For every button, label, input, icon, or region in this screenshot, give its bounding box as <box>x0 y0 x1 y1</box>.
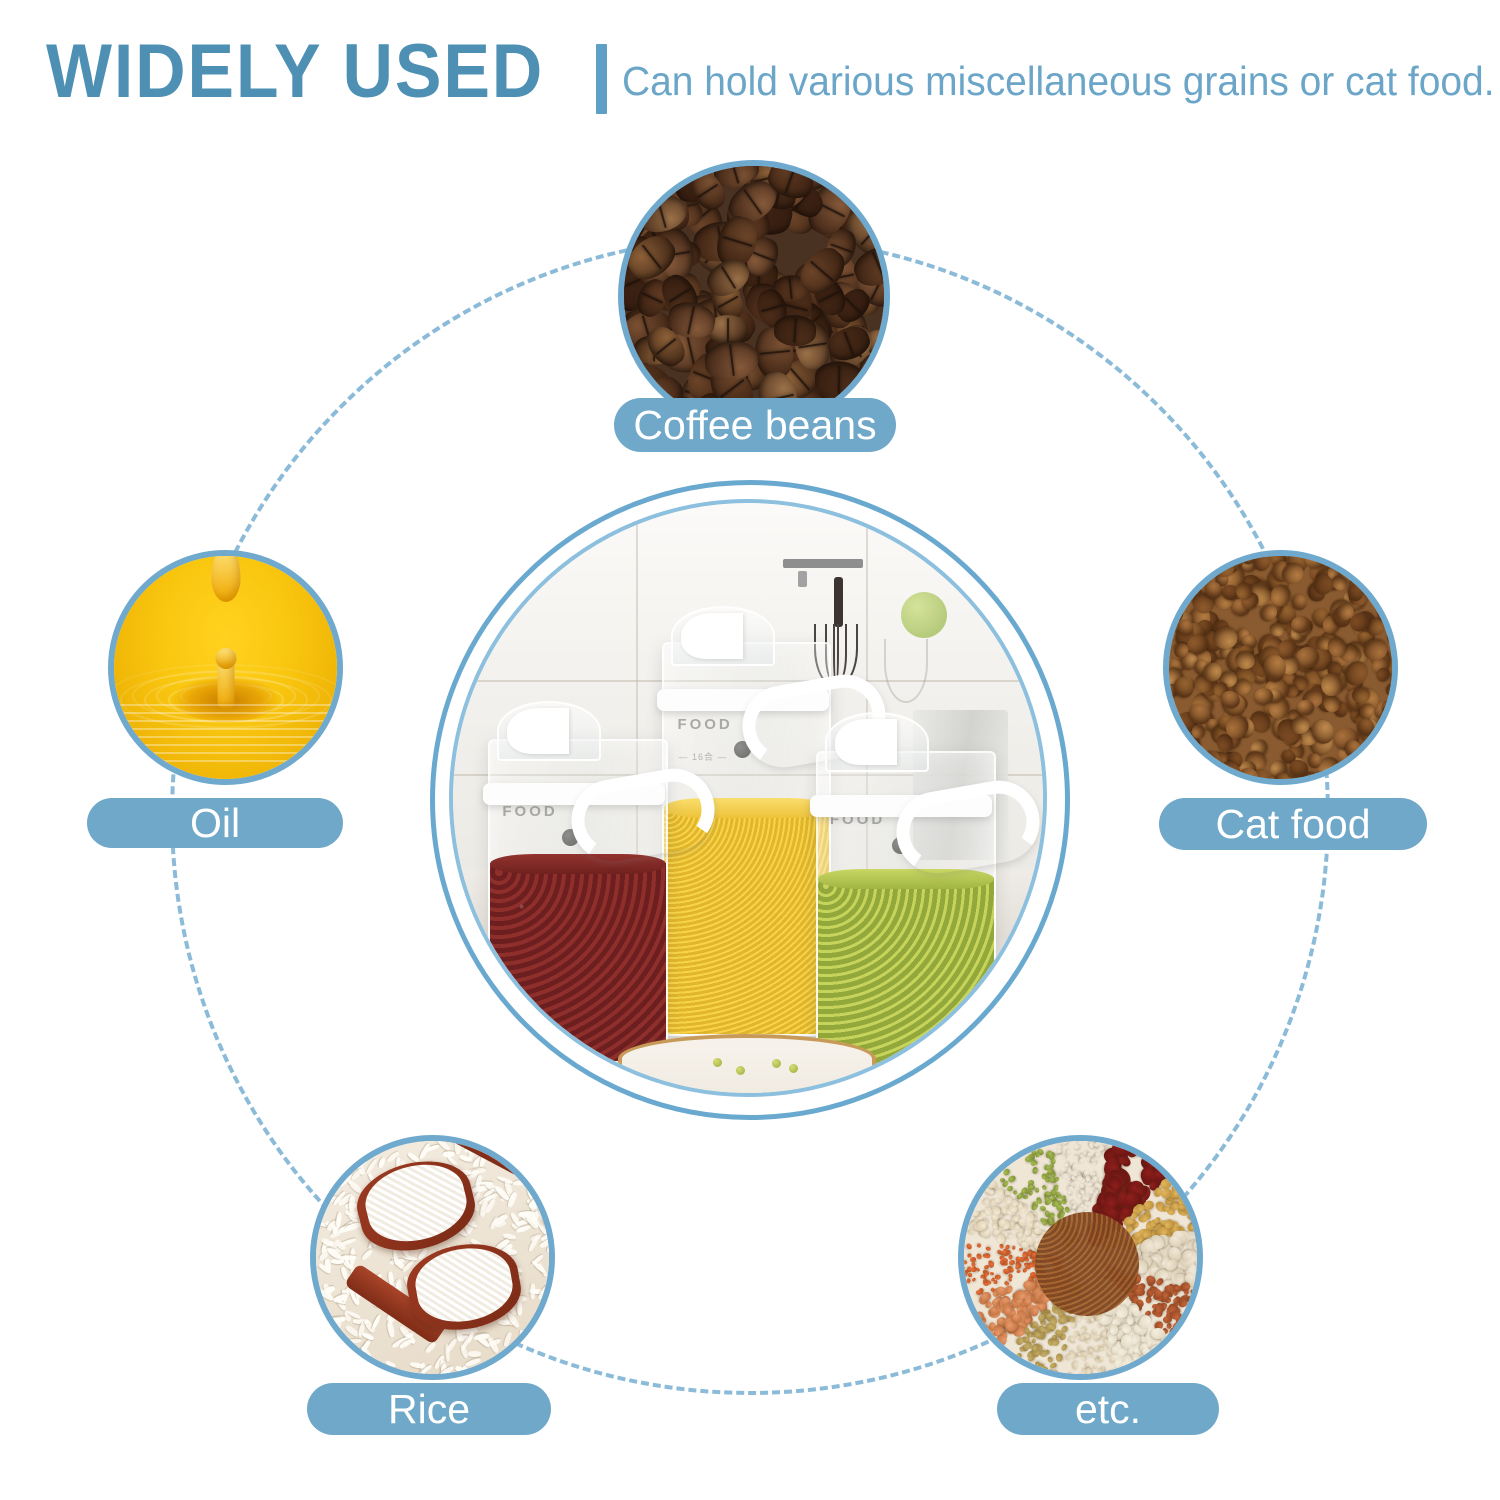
grain-piece <box>1197 1237 1203 1249</box>
rice-circle <box>310 1135 555 1380</box>
rice-grain <box>550 1256 555 1268</box>
rice-grain <box>418 1142 431 1160</box>
badge-etc[interactable]: etc. <box>997 1383 1219 1435</box>
rice-grain <box>427 1373 445 1380</box>
product-hero-photo: FOOD — 16合 — FOOD <box>453 503 1043 1093</box>
rice-grain <box>531 1325 543 1331</box>
badge-oil[interactable]: Oil <box>87 798 343 848</box>
container-left-spout <box>497 701 601 761</box>
rice-grain <box>506 1348 518 1363</box>
spout-flap <box>507 708 569 754</box>
rice-grain <box>414 1373 430 1380</box>
spout-flap <box>681 613 743 659</box>
kibble-piece <box>1390 675 1398 690</box>
rice-grain <box>384 1374 392 1380</box>
container-center-spout <box>671 606 775 666</box>
rice-grain <box>554 1375 555 1380</box>
hero-inner-ring: FOOD — 16合 — FOOD <box>449 499 1047 1097</box>
rice-grain <box>513 1373 524 1380</box>
shelf-hook <box>798 571 807 587</box>
lemon-decor <box>901 592 947 638</box>
rice-grain <box>350 1376 364 1380</box>
rice-grain <box>524 1379 535 1380</box>
rice-grain <box>327 1349 345 1355</box>
cat-food-circle <box>1163 550 1398 785</box>
grain-piece <box>1052 1374 1057 1379</box>
badge-rice[interactable]: Rice <box>307 1383 551 1435</box>
page-header: WIDELY USED Can hold various miscellaneo… <box>0 0 1500 145</box>
oil-circle <box>108 550 343 785</box>
grain-piece <box>1115 1378 1121 1380</box>
etc-circle <box>958 1135 1203 1380</box>
rice-grain <box>519 1330 527 1346</box>
kibble-piece <box>1392 670 1398 688</box>
page-subtitle: Can hold various miscellaneous grains or… <box>622 56 1495 106</box>
grain-piece <box>1036 1187 1040 1192</box>
grain-piece <box>1108 1378 1116 1380</box>
loose-pea <box>772 1059 781 1068</box>
grain-piece <box>1089 1373 1094 1377</box>
cat-food-image <box>1169 556 1392 779</box>
kibble-piece <box>1297 700 1314 716</box>
gold-rimmed-tray <box>618 1034 876 1093</box>
grain-piece <box>1064 1205 1071 1213</box>
grain-piece <box>1196 1231 1203 1249</box>
grain-piece <box>1051 1159 1057 1166</box>
grain-piece <box>1067 1373 1073 1378</box>
rice-grain <box>531 1260 547 1275</box>
title-divider-bar <box>596 44 607 114</box>
grain-piece <box>1197 1229 1203 1243</box>
rice-grain <box>464 1358 481 1368</box>
rice-grain <box>551 1370 555 1376</box>
fill-surface <box>818 869 994 889</box>
rice-grain <box>387 1138 405 1150</box>
rice-grain <box>335 1211 342 1227</box>
rice-grain <box>532 1378 548 1380</box>
oil-droplet-falling <box>211 550 240 602</box>
grain-piece <box>1199 1237 1203 1252</box>
coffee-bean <box>814 361 863 398</box>
oil-sheen <box>114 704 337 764</box>
mixed-grains-image <box>964 1141 1197 1374</box>
rice-grain <box>344 1368 349 1380</box>
rice-grain <box>320 1379 335 1380</box>
rice-grain <box>442 1151 454 1158</box>
grain-piece <box>1198 1269 1203 1281</box>
jar-scale-text: — 16合 — <box>678 750 727 763</box>
grain-piece <box>1196 1291 1202 1298</box>
rice-grain <box>349 1196 356 1213</box>
rice-grain <box>426 1376 438 1380</box>
rice-grain <box>365 1158 378 1175</box>
rice-grain <box>377 1156 386 1168</box>
rice-grain <box>331 1362 336 1379</box>
rice-grain <box>459 1344 469 1359</box>
rice-grain <box>531 1283 536 1299</box>
rice-grain <box>340 1374 348 1380</box>
hero-outer-ring: FOOD — 16合 — FOOD <box>430 480 1070 1120</box>
rice-image <box>316 1141 549 1374</box>
grain-piece <box>1027 1179 1034 1185</box>
kibble-piece <box>1364 767 1382 785</box>
jar-brand-text: FOOD <box>502 803 557 820</box>
rice-grain <box>353 1370 368 1380</box>
grain-piece <box>1069 1377 1076 1380</box>
oil-image <box>114 556 337 779</box>
kibble-piece <box>1395 774 1398 785</box>
rice-grain <box>503 1331 513 1347</box>
rice-grain <box>524 1139 537 1148</box>
rice-grain <box>418 1375 430 1380</box>
badge-coffee-beans[interactable]: Coffee beans <box>614 398 896 452</box>
kibble-piece <box>1251 551 1273 574</box>
loose-pea <box>713 1058 722 1067</box>
coffee-beans-circle <box>618 160 890 432</box>
rice-grain <box>345 1351 356 1364</box>
kibble-piece <box>1307 753 1321 768</box>
rice-grain <box>346 1338 362 1343</box>
rice-grain <box>408 1373 417 1380</box>
loose-pea <box>789 1064 798 1073</box>
jar-brand-text: FOOD <box>677 716 732 733</box>
container-right-spout <box>825 712 929 772</box>
coffee-beans-image <box>624 166 884 426</box>
rice-grain <box>318 1368 331 1380</box>
jar-contents-red-beans <box>490 863 666 1061</box>
whisk-handle <box>834 577 843 627</box>
spout-flap <box>835 719 897 765</box>
rice-grain <box>326 1156 343 1166</box>
rice-grain <box>467 1351 480 1357</box>
rice-grain <box>370 1314 381 1330</box>
rice-grain <box>351 1379 364 1380</box>
kibble-piece <box>1275 773 1290 785</box>
badge-cat-food[interactable]: Cat food <box>1159 798 1427 850</box>
rice-grain <box>518 1301 523 1315</box>
rice-grain <box>361 1249 374 1262</box>
grain-piece <box>1096 1377 1100 1380</box>
grain-center-cluster <box>1035 1212 1139 1316</box>
page-title: WIDELY USED <box>46 34 544 110</box>
grain-piece <box>1041 1185 1047 1191</box>
grain-piece <box>1043 1196 1048 1200</box>
rice-grain <box>391 1379 405 1380</box>
rice-grain <box>384 1360 396 1369</box>
grain-piece <box>1070 1376 1076 1380</box>
grain-piece <box>1041 1219 1048 1227</box>
grain-piece <box>1202 1258 1203 1269</box>
kibble-piece <box>1394 591 1398 606</box>
jar-contents-mung-beans <box>818 878 994 1065</box>
rice-grain <box>332 1138 338 1155</box>
wall-shelf-bar <box>783 559 863 568</box>
oil-droplet-small <box>215 648 236 669</box>
rice-grain <box>506 1364 519 1374</box>
